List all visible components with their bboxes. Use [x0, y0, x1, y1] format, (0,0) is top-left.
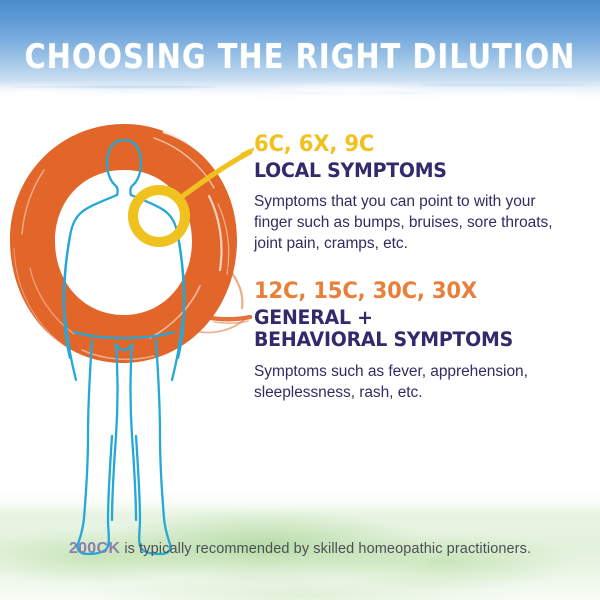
footer-potency: 200CK [69, 540, 120, 557]
sections-container: 6C, 6X, 9C LOCAL SYMPTOMS Symptoms that … [254, 132, 592, 403]
wash-streak [12, 86, 216, 88]
symptom-body-local: Symptoms that you can point to with your… [254, 191, 572, 254]
wash-streak [420, 84, 588, 86]
footer-note-text: is typically recommended by skilled home… [120, 541, 531, 557]
symptom-body-general: Symptoms such as fever, apprehension, sl… [254, 361, 572, 403]
symptom-heading-general: GENERAL + BEHAVIORAL SYMPTOMS [254, 307, 582, 352]
dilution-codes-general: 12C, 15C, 30C, 30X [254, 279, 578, 305]
dilution-illustration [4, 118, 254, 558]
symptom-heading-general-line1: GENERAL + [254, 306, 373, 329]
dilution-codes-local: 6C, 6X, 9C [254, 132, 578, 158]
yellow-highlight-circle [133, 190, 185, 242]
section-general-symptoms: 12C, 15C, 30C, 30X GENERAL + BEHAVIORAL … [254, 279, 592, 403]
section-local-symptoms: 6C, 6X, 9C LOCAL SYMPTOMS Symptoms that … [254, 132, 592, 254]
symptom-heading-general-line2: BEHAVIORAL SYMPTOMS [254, 328, 513, 351]
pointer-dash-general [200, 316, 250, 319]
infographic-canvas: CHOOSING THE RIGHT DILUTION [0, 0, 600, 600]
footer-note: 200CK is typically recommended by skille… [0, 540, 600, 558]
wash-streak [276, 92, 432, 94]
page-title: CHOOSING THE RIGHT DILUTION [18, 38, 582, 76]
symptom-heading-local: LOCAL SYMPTOMS [254, 160, 582, 183]
